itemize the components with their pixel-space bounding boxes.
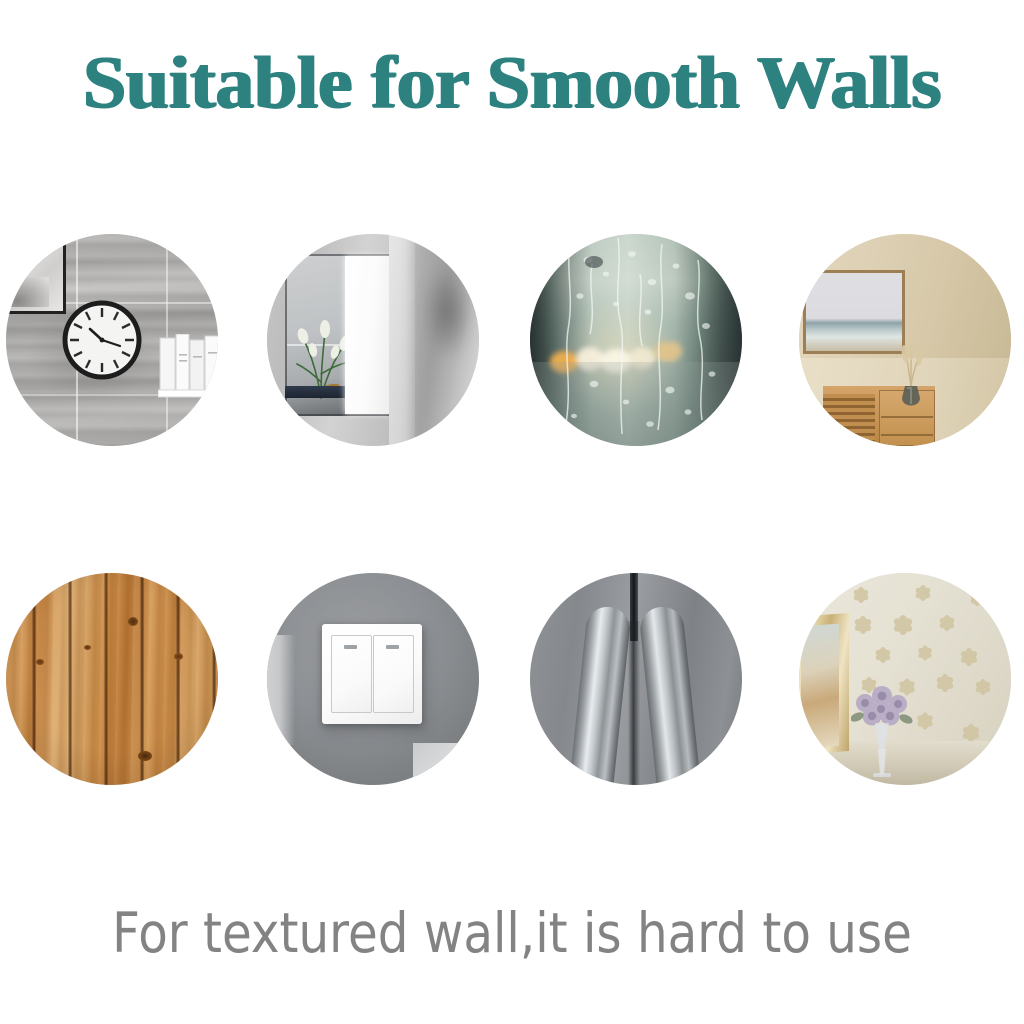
rose-bouquet-in-vase	[851, 683, 913, 779]
water-droplets	[530, 234, 742, 446]
switch-indicator-right	[386, 645, 399, 649]
cabinet-slats	[823, 394, 875, 446]
surface-tile-floral-wallpaper	[799, 573, 1011, 785]
toiletry-items	[158, 334, 218, 402]
white-glass-panel	[345, 256, 391, 414]
vase-with-dried-grass	[891, 342, 931, 414]
handle-gap-shadow	[628, 621, 640, 785]
drawer-seam	[881, 416, 933, 418]
suitable-surfaces-gallery	[0, 0, 1024, 1024]
framed-seascape-art	[803, 270, 905, 354]
door-frame	[389, 234, 415, 446]
wall-clock-icon	[62, 300, 142, 380]
framed-painting	[801, 624, 839, 749]
wall-corner-highlight	[267, 635, 295, 745]
surface-tile-marble-wall-clock	[6, 234, 218, 446]
switch-indicator-left	[344, 645, 357, 649]
footnote-text: For textured wall,it is hard to use	[36, 903, 988, 964]
surface-tile-wood-planks	[6, 573, 218, 785]
surface-tile-steel-handles	[530, 573, 742, 785]
wood-vignette	[6, 573, 218, 785]
framed-picture	[6, 242, 66, 314]
blurred-shadow	[425, 264, 473, 360]
surface-tile-rainy-window	[530, 234, 742, 446]
wall-corner-highlight	[413, 743, 479, 785]
surface-tile-light-switch	[267, 573, 479, 785]
drawer-seam	[881, 434, 933, 436]
surface-tile-painted-wall-art	[799, 234, 1011, 446]
surface-tile-mirror-glass	[267, 234, 479, 446]
